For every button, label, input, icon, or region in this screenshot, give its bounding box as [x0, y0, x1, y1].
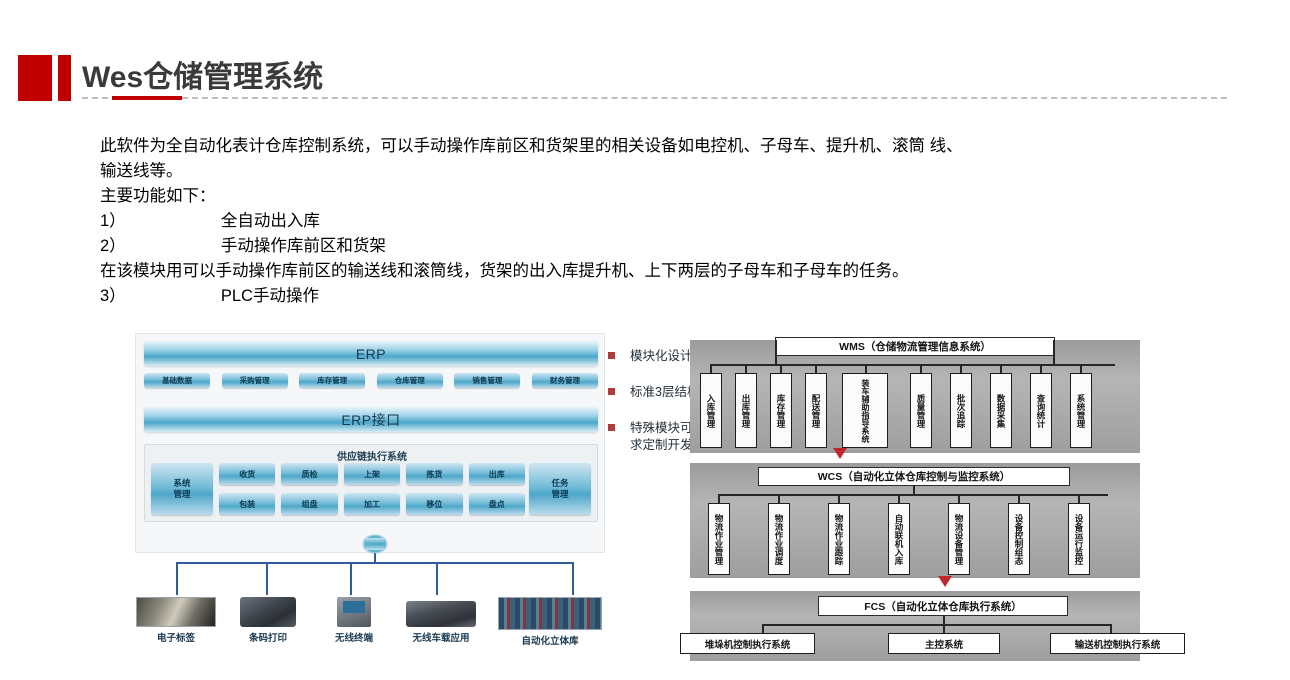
connector-drop-3: [350, 562, 352, 595]
connector-drop-4: [436, 562, 438, 595]
feature-3-number: 3）: [100, 287, 126, 305]
feature-1-text: 全自动出入库: [221, 212, 320, 230]
fcs-branch-0: [762, 624, 764, 633]
wcs-node-auto-online-inbound: 自动联机入库: [888, 503, 910, 575]
device-label-1: 条码打印: [228, 630, 308, 644]
wcs-branch-6: [1078, 494, 1080, 503]
header-underline: [112, 96, 182, 100]
wcs-node-logistics-ops-track: 物流作业跟踪: [828, 503, 850, 575]
terminal-screen: [343, 601, 365, 613]
device-label-0: 电子标签: [135, 630, 217, 644]
wms-panel: WMS（仓储物流管理信息系统） 入库管理 出库管理 库存管理 配送管理 装车辅助…: [690, 340, 1140, 453]
wcs-branch-5: [1018, 494, 1020, 503]
connector-bus: [176, 562, 574, 564]
erp-module-finance: 财务管理: [532, 373, 598, 388]
feature-2-detail: 在该模块用可以手动操作库前区的输送线和滚筒线，货架的出入库提升机、上下两层的子母…: [100, 262, 909, 280]
legend-bullet-icon: [608, 424, 615, 431]
wcs-trunk: [913, 486, 915, 495]
legend-bullet-icon: [608, 352, 615, 359]
feature-2-text: 手动操作库前区和货架: [221, 237, 386, 255]
wms-node-quality: 质量管理: [910, 373, 932, 448]
scm-op-picking: 拣货: [406, 463, 462, 485]
fcs-title: FCS（自动化立体仓库执行系统）: [864, 599, 1022, 614]
intro-line-2-row: 输送线等。: [100, 159, 1240, 184]
wcs-title: WCS（自动化立体仓库控制与监控系统）: [818, 469, 1011, 484]
feature-item-2-detail-row: 在该模块用可以手动操作库前区的输送线和滚筒线，货架的出入库提升机、上下两层的子母…: [100, 259, 1240, 284]
intro-line-1: 此软件为全自动化表计仓库控制系统，可以手动操作库前区和货架里的相关设备如电控机、…: [100, 137, 963, 155]
wms-node-loading-guidance: 装车辅助指导系统: [842, 373, 888, 448]
device-label-4: 自动化立体库: [495, 633, 605, 647]
wms-title: WMS（仓储物流管理信息系统）: [839, 339, 991, 354]
wms-node-data-collection: 数据采集: [990, 373, 1012, 448]
fcs-bus: [762, 624, 1112, 626]
erp-module-sales: 销售管理: [454, 373, 520, 388]
scm-op-outbound: 出库: [469, 463, 525, 485]
erp-module-purchasing: 采购管理: [222, 373, 288, 388]
scm-op-relocation: 移位: [406, 493, 462, 515]
wcs-node-logistics-ops-mgmt: 物流作业管理: [708, 503, 730, 575]
scm-task-management-line2: 管理: [551, 489, 568, 500]
erp-module-inventory: 库存管理: [299, 373, 365, 388]
wms-title-box: WMS（仓储物流管理信息系统）: [775, 337, 1055, 356]
connector-drop-2: [266, 562, 268, 595]
wms-bus: [710, 364, 1115, 366]
header-accent-bar-large: [18, 55, 52, 101]
fcs-branch-1: [943, 624, 945, 633]
page-title: Wes仓储管理系统: [82, 52, 323, 96]
wms-node-inventory: 库存管理: [770, 373, 792, 448]
scm-system-management-line1: 系统: [173, 478, 190, 489]
fcs-node-stacker-control: 堆垛机控制执行系统: [680, 633, 815, 654]
wms-node-query-stats: 查询统计: [1030, 373, 1052, 448]
wcs-node-logistics-ops-sched: 物流作业调度: [768, 503, 790, 575]
wms-branch-3: [815, 364, 817, 373]
device-barcode-printer: 条码打印: [228, 597, 308, 644]
wcs-panel: WCS（自动化立体仓库控制与监控系统） 物流作业管理 物流作业调度 物流作业跟踪…: [690, 463, 1140, 578]
erp-layer-label: ERP: [356, 346, 386, 362]
scm-operation-grid: 收货 质检 上架 拣货 出库 包装 组盘 加工 移位 盘点: [219, 463, 525, 515]
erp-layer-band: ERP: [144, 341, 598, 366]
intro-line-2: 输送线等。: [100, 162, 183, 180]
automated-warehouse-thumbnail: [498, 597, 602, 630]
features-heading: 主要功能如下：: [100, 187, 216, 205]
wcs-to-fcs-arrow-icon: [938, 576, 952, 587]
device-vehicle-mounted: 无线车载应用: [391, 597, 491, 644]
supply-chain-execution-box: 供应链执行系统 系统 管理 收货 质检 上架 拣货 出库 包装 组盘 加工 移位…: [144, 444, 598, 522]
scm-op-inspection: 质检: [281, 463, 337, 485]
intro-paragraph: 此软件为全自动化表计仓库控制系统，可以手动操作库前区和货架里的相关设备如电控机、…: [100, 134, 1240, 159]
scm-op-packing: 包装: [219, 493, 275, 515]
wms-left-stem: [775, 340, 777, 364]
wcs-node-logistics-equipment: 物流设备管理: [948, 503, 970, 575]
wms-branch-7: [1000, 364, 1002, 373]
erp-interface-label: ERP接口: [341, 410, 400, 430]
erp-interface-band: ERP接口: [144, 407, 598, 432]
erp-module-row: 基础数据 采购管理 库存管理 仓库管理 销售管理 财务管理: [144, 373, 598, 389]
supply-chain-title: 供应链执行系统: [145, 448, 599, 463]
feature-2-number: 2）: [100, 237, 126, 255]
wcs-branch-4: [958, 494, 960, 503]
wms-right-stem: [1053, 340, 1055, 364]
feature-item-3: 3） PLC手动操作: [100, 284, 1240, 309]
scm-op-receiving: 收货: [219, 463, 275, 485]
wms-branch-2: [780, 364, 782, 373]
description-block: 此软件为全自动化表计仓库控制系统，可以手动操作库前区和货架里的相关设备如电控机、…: [100, 134, 1240, 309]
header-accent-bar-small: [58, 55, 71, 101]
device-row: 电子标签 条码打印 无线终端 无线车载应用 自动化立体库: [135, 597, 605, 657]
scm-op-stocktaking: 盘点: [469, 493, 525, 515]
wms-branch-6: [960, 364, 962, 373]
feature-item-1: 1） 全自动出入库: [100, 209, 1240, 234]
wms-to-wcs-arrow-icon: [833, 448, 847, 459]
wms-node-inbound: 入库管理: [700, 373, 722, 448]
feature-1-number: 1）: [100, 212, 126, 230]
feature-3-text: PLC手动操作: [221, 287, 319, 305]
erp-module-basic-data: 基础数据: [144, 373, 210, 388]
wms-branch-0: [710, 364, 712, 373]
device-wireless-terminal: 无线终端: [319, 597, 389, 644]
wcs-node-equipment-monitor: 设备运行监控: [1068, 503, 1090, 575]
fcs-branch-2: [1110, 624, 1112, 633]
wms-branch-8: [1040, 364, 1042, 373]
device-label-3: 无线车载应用: [391, 630, 491, 644]
fcs-panel: FCS（自动化立体仓库执行系统） 堆垛机控制执行系统 主控系统 输送机控制执行系…: [690, 591, 1140, 661]
device-label-2: 无线终端: [319, 630, 389, 644]
device-automated-warehouse: 自动化立体库: [495, 597, 605, 647]
features-heading-row: 主要功能如下：: [100, 184, 1240, 209]
connector-drop-5: [572, 562, 574, 595]
scm-task-management: 任务 管理: [529, 463, 591, 515]
header-divider: [82, 97, 1227, 99]
electronic-label-thumbnail: [136, 597, 216, 627]
scm-task-management-line1: 任务: [551, 478, 568, 489]
barcode-printer-thumbnail: [240, 597, 296, 627]
fcs-node-conveyor-control: 输送机控制执行系统: [1050, 633, 1185, 654]
scm-op-palletizing: 组盘: [281, 493, 337, 515]
vehicle-mounted-thumbnail: [406, 601, 476, 627]
wcs-branch-3: [898, 494, 900, 503]
fcs-node-master-control: 主控系统: [888, 633, 1000, 654]
wms-branch-9: [1080, 364, 1082, 373]
feature-item-2: 2） 手动操作库前区和货架: [100, 234, 1240, 259]
wcs-branch-1: [778, 494, 780, 503]
wcs-title-box: WCS（自动化立体仓库控制与监控系统）: [758, 467, 1070, 486]
connector-drop-1: [176, 562, 178, 595]
wms-node-outbound: 出库管理: [735, 373, 757, 448]
scm-op-putaway: 上架: [344, 463, 400, 485]
wms-node-system-mgmt: 系统管理: [1070, 373, 1092, 448]
wms-branch-5: [920, 364, 922, 373]
scm-system-management: 系统 管理: [151, 463, 213, 515]
wms-branch-4: [865, 364, 867, 373]
wms-wcs-fcs-diagram: WMS（仓储物流管理信息系统） 入库管理 出库管理 库存管理 配送管理 装车辅助…: [690, 333, 1140, 668]
wireless-terminal-thumbnail: [337, 597, 371, 627]
wcs-branch-0: [718, 494, 720, 503]
wms-node-batch-trace: 批次追踪: [950, 373, 972, 448]
connector-hub-icon: [362, 534, 388, 554]
scm-system-management-line2: 管理: [173, 489, 190, 500]
erp-module-warehouse: 仓库管理: [377, 373, 443, 388]
wcs-branch-2: [838, 494, 840, 503]
erp-architecture-diagram: ERP 基础数据 采购管理 库存管理 仓库管理 销售管理 财务管理 ERP接口 …: [135, 333, 605, 553]
fcs-title-box: FCS（自动化立体仓库执行系统）: [818, 596, 1068, 616]
legend-bullet-icon: [608, 388, 615, 395]
device-electronic-label: 电子标签: [135, 597, 217, 644]
slide-header: Wes仓储管理系统: [0, 52, 1290, 108]
wms-node-distribution: 配送管理: [805, 373, 827, 448]
wms-branch-1: [745, 364, 747, 373]
scm-op-processing: 加工: [344, 493, 400, 515]
wcs-node-equipment-control: 设备控制组态: [1008, 503, 1030, 575]
